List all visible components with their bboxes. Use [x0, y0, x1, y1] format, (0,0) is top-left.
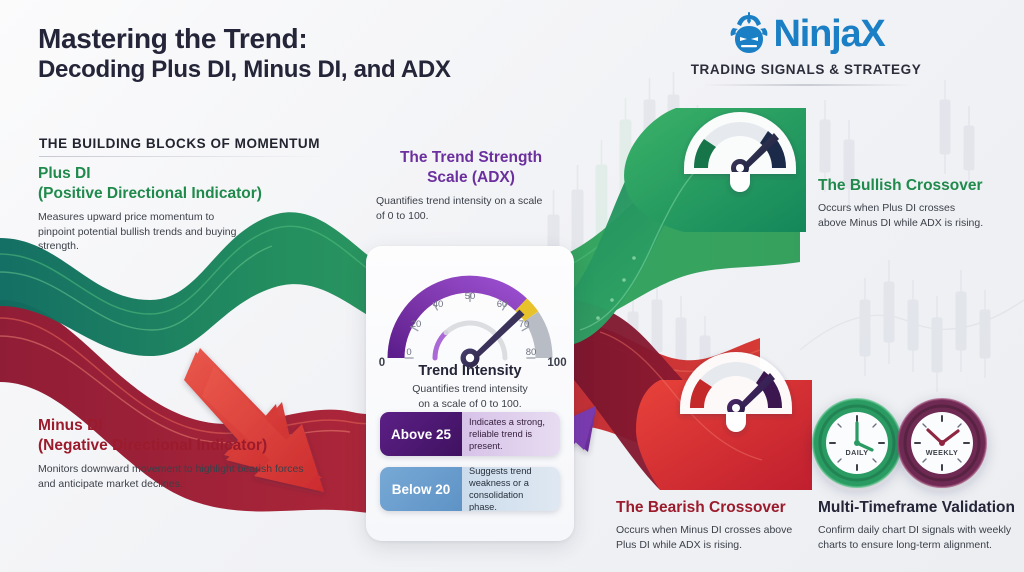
- adx-heading-line-2: Scale (ADX): [376, 168, 566, 188]
- weekly-clock-icon: [898, 399, 986, 487]
- page-title-line-1: Mastering the Trend:: [38, 22, 307, 55]
- trend-intensity-card: 0 20 40 50 60 70 80 0 100 Trend Intensit…: [366, 246, 574, 541]
- section-heading-building-blocks: THE BUILDING BLOCKS OF MOMENTUM: [39, 136, 320, 151]
- minus-di-block: Minus DI (Negative Directional Indicator…: [38, 416, 338, 491]
- plus-di-subtitle: (Positive Directional Indicator): [38, 184, 298, 204]
- gauge-tick-0: 0: [406, 347, 411, 358]
- bullish-crossover-title: The Bullish Crossover: [818, 176, 1018, 196]
- bullish-gauge-icon: [684, 112, 796, 192]
- bullish-crossover-block: The Bullish Crossover Occurs when Plus D…: [818, 176, 1018, 231]
- bearish-crossover-block: The Bearish Crossover Occurs when Minus …: [616, 498, 816, 553]
- threshold-label-above-25: Above 25: [380, 412, 462, 456]
- minus-di-subtitle: (Negative Directional Indicator): [38, 436, 338, 456]
- gauge-tick-80: 80: [526, 347, 537, 358]
- bullish-crossover-body-line-2: above Minus DI while ADX is rising.: [818, 216, 1018, 231]
- trend-intensity-gauge: 0 20 40 50 60 70 80 0 100: [366, 254, 574, 372]
- bearish-crossover-body-line-1: Occurs when Minus DI crosses above: [616, 523, 816, 538]
- threshold-row-below-20[interactable]: Below 20 Suggests trend weakness or a co…: [380, 467, 560, 511]
- section-divider: [39, 156, 327, 157]
- threshold-row-above-25[interactable]: Above 25 Indicates a strong, reliable tr…: [380, 412, 560, 456]
- adx-heading-line-1: The Trend Strength: [376, 148, 566, 168]
- candlestick-backdrop: [548, 72, 1024, 408]
- gauge-tick-60: 60: [497, 299, 508, 310]
- minus-di-title: Minus DI: [38, 416, 338, 436]
- plus-di-title: Plus DI: [38, 164, 298, 184]
- bullish-crossover-body-line-1: Occurs when Plus DI crosses: [818, 201, 1018, 216]
- daily-clock-icon: [813, 399, 901, 487]
- weekly-clock-label: WEEKLY: [912, 448, 972, 457]
- bearish-gauge-icon: [680, 352, 792, 432]
- adx-heading-body: Quantifies trend intensity on a scale of…: [376, 194, 554, 224]
- gauge-subtitle-line-1: Quantifies trend intensity: [378, 382, 562, 397]
- bearish-crossover-title: The Bearish Crossover: [616, 498, 816, 518]
- gauge-subtitle: Quantifies trend intensity on a scale of…: [378, 382, 562, 412]
- daily-clock-label: DAILY: [827, 448, 887, 457]
- gauge-tick-50: 50: [465, 291, 476, 302]
- ninja-helmet-icon: [727, 12, 771, 56]
- gauge-tick-40: 40: [433, 299, 444, 310]
- threshold-desc-above-25: Indicates a strong, reliable trend is pr…: [462, 412, 560, 456]
- gauge-tick-20: 20: [411, 319, 422, 330]
- brand-logo[interactable]: NinjaX TRADING SIGNALS & STRATEGY: [676, 8, 936, 90]
- adx-heading-block: The Trend Strength Scale (ADX) Quantifie…: [376, 148, 566, 223]
- plus-di-block: Plus DI (Positive Directional Indicator)…: [38, 164, 298, 254]
- gauge-needle: [461, 310, 525, 368]
- brand-name: NinjaX: [773, 15, 884, 53]
- page-title-line-2: Decoding Plus DI, Minus DI, and ADX: [38, 56, 451, 85]
- multi-timeframe-title: Multi-Timeframe Validation: [818, 498, 1024, 518]
- infographic-canvas: Mastering the Trend: Decoding Plus DI, M…: [0, 0, 1024, 572]
- gauge-subtitle-line-2: on a scale of 0 to 100.: [378, 397, 562, 412]
- bullish-flow: [548, 108, 806, 347]
- threshold-desc-below-20: Suggests trend weakness or a consolidati…: [462, 467, 560, 511]
- logo-divider: [701, 84, 911, 86]
- gauge-tick-70: 70: [519, 319, 530, 330]
- plus-di-body: Measures upward price momentum to pinpoi…: [38, 210, 238, 255]
- brand-tagline: TRADING SIGNALS & STRATEGY: [676, 62, 936, 77]
- multi-timeframe-body-line-2: charts to ensure long-term alignment.: [818, 538, 1024, 553]
- gauge-title: Trend Intensity: [366, 362, 574, 381]
- multi-timeframe-block: Multi-Timeframe Validation Confirm daily…: [818, 498, 1024, 553]
- multi-timeframe-body-line-1: Confirm daily chart DI signals with week…: [818, 523, 1024, 538]
- bearish-crossover-body-line-2: Plus DI while ADX is rising.: [616, 538, 816, 553]
- minus-di-body: Monitors downward movement to highlight …: [38, 462, 314, 492]
- threshold-label-below-20: Below 20: [380, 467, 462, 511]
